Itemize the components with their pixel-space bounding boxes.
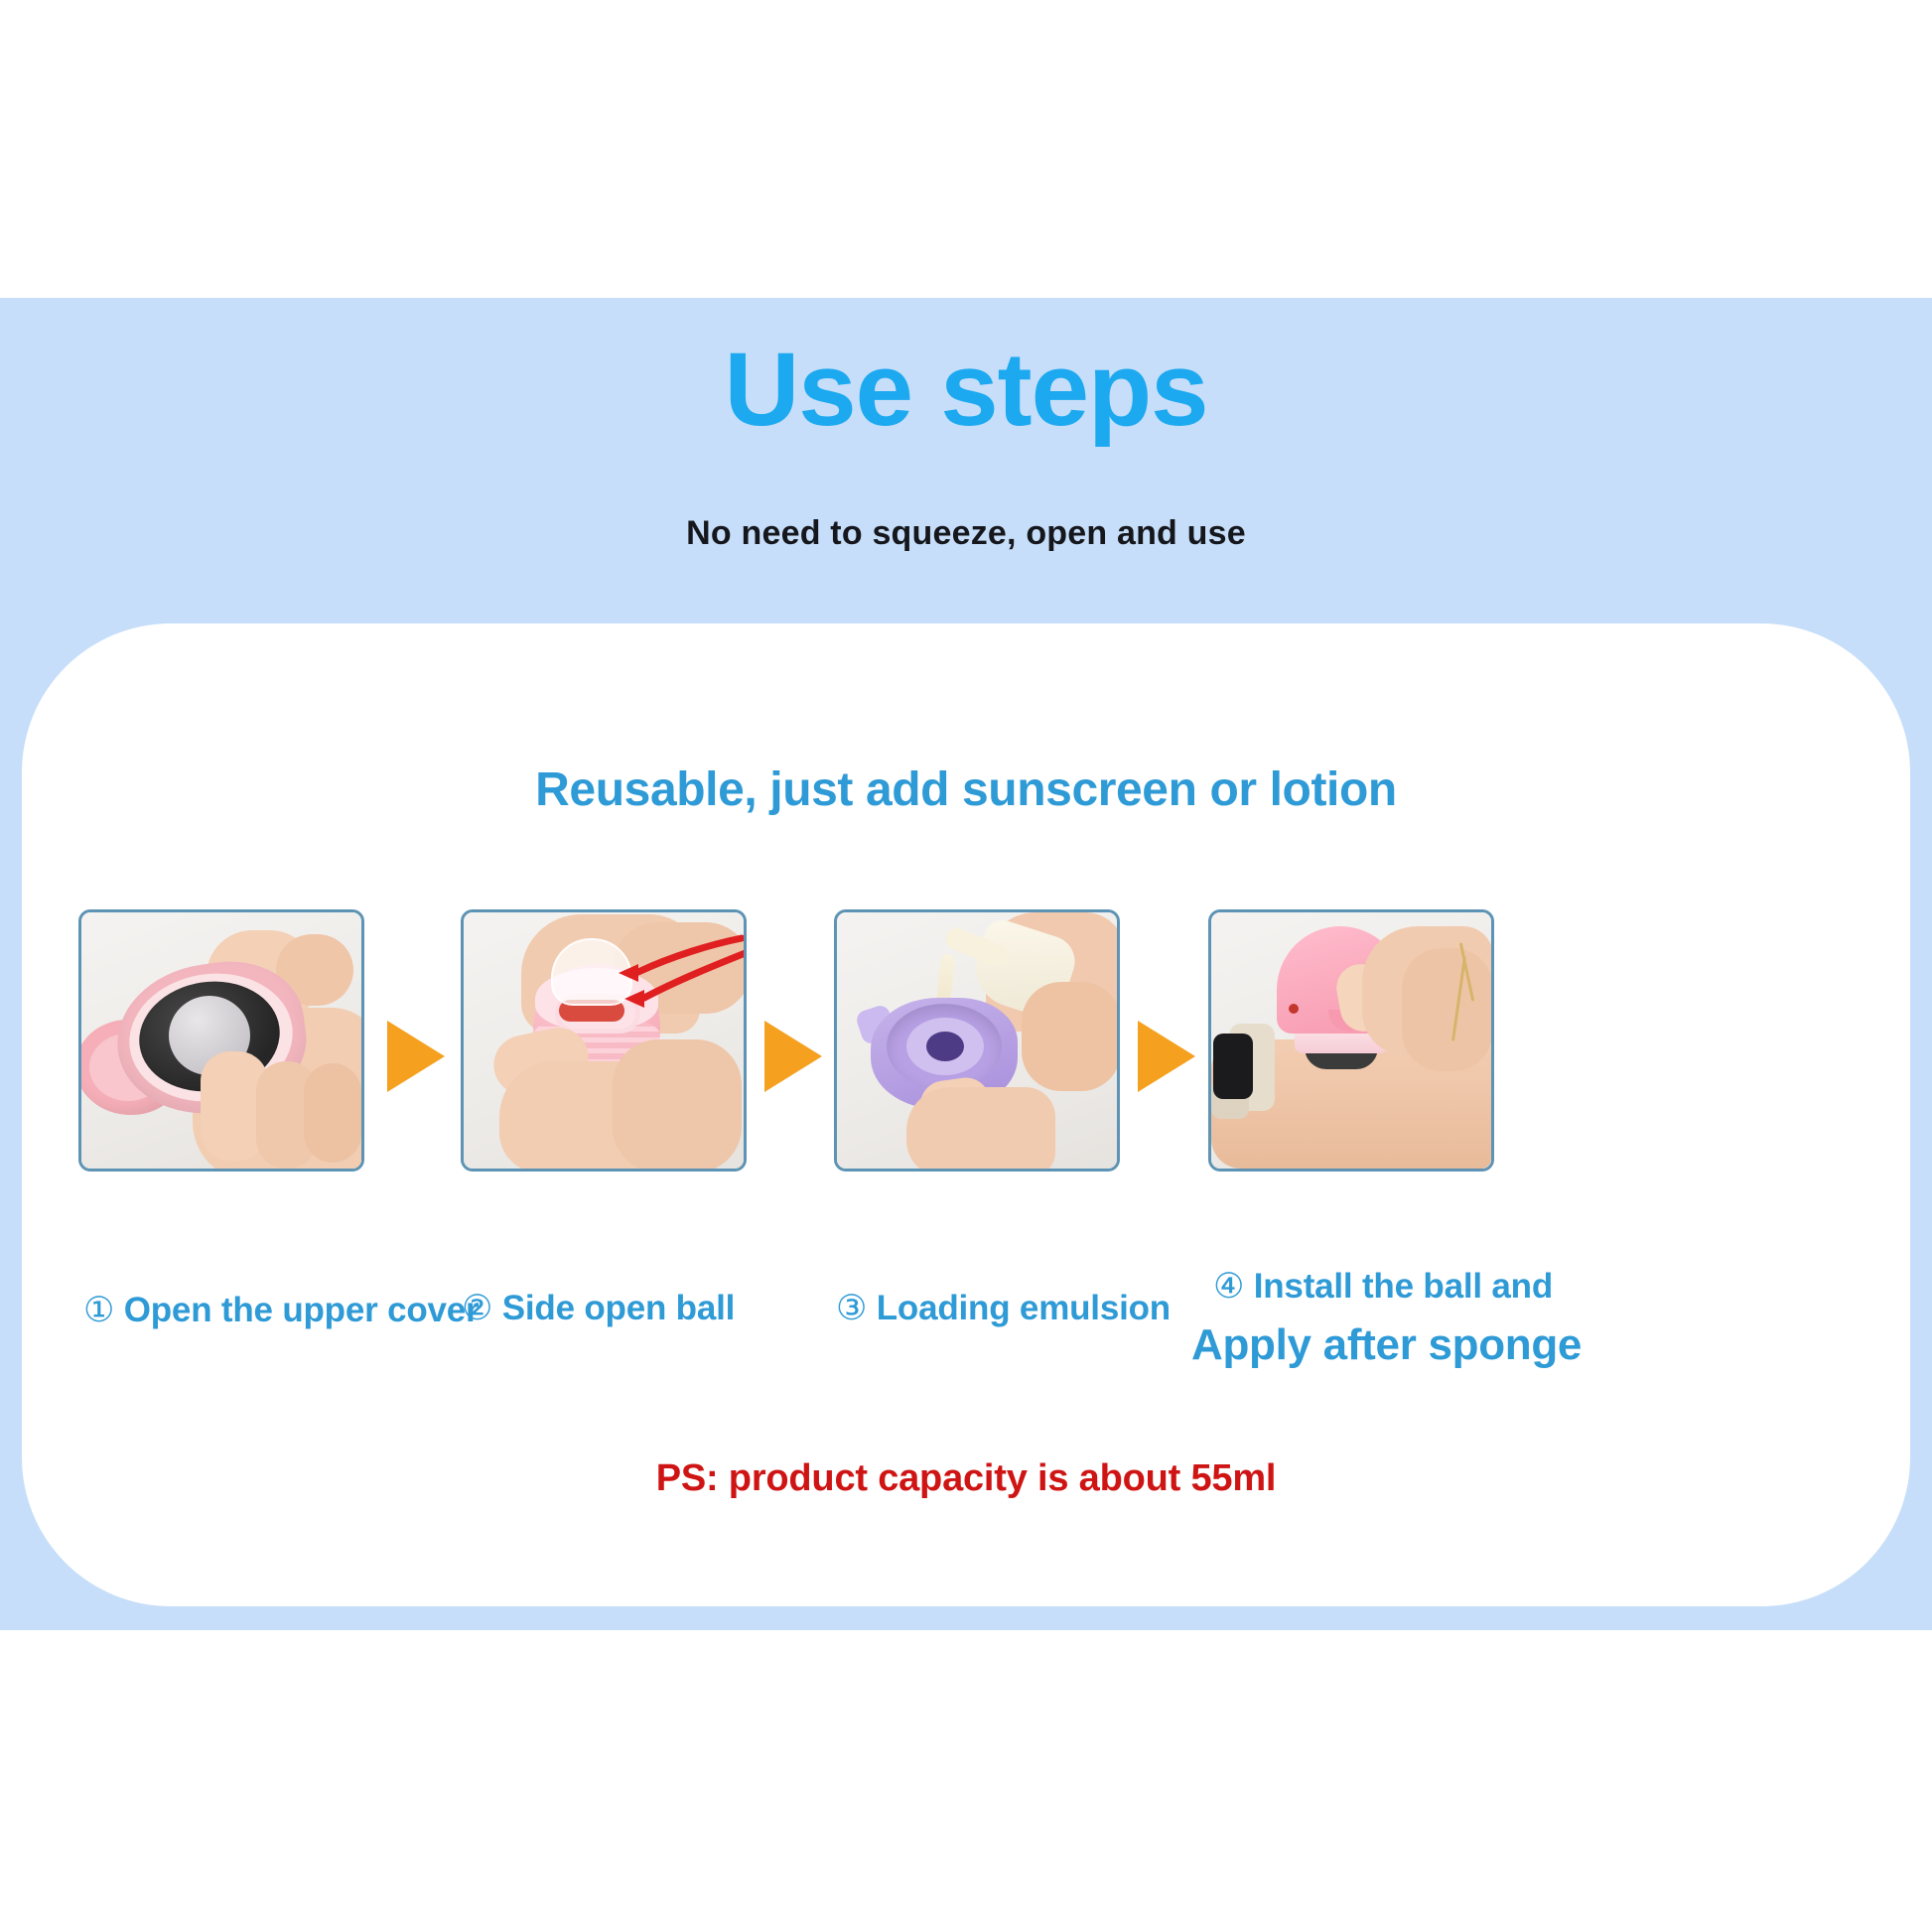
step-3-caption: ③ Loading emulsion	[836, 1289, 1171, 1328]
next-step-arrow-icon	[764, 1021, 822, 1092]
step-3-photo	[834, 909, 1120, 1172]
red-dot-marker-icon	[1289, 1004, 1299, 1014]
page-subtitle: No need to squeeze, open and use	[0, 514, 1932, 553]
step-1-caption: ① Open the upper cover	[83, 1291, 479, 1330]
photo-strip	[22, 909, 1910, 1279]
capacity-note: PS: product capacity is about 55ml	[22, 1457, 1910, 1500]
hand-back	[1402, 948, 1491, 1071]
smartwatch-face	[1213, 1034, 1253, 1099]
step-4-photo	[1208, 909, 1494, 1172]
hand-fingers	[1022, 982, 1117, 1091]
next-step-arrow-icon	[1138, 1021, 1195, 1092]
step-3-number: ③	[836, 1289, 867, 1327]
step-2-label: Side open ball	[502, 1289, 735, 1327]
step-4-number: ④	[1213, 1267, 1244, 1306]
step-4-caption-line2: Apply after sponge	[1191, 1320, 1582, 1370]
steps-card: Reusable, just add sunscreen or lotion	[22, 623, 1910, 1606]
next-step-arrow-icon	[387, 1021, 445, 1092]
step-1-number: ①	[83, 1291, 114, 1329]
hand-lower-back	[613, 1039, 742, 1169]
step-4-label: Install the ball and	[1254, 1267, 1553, 1306]
page-title: Use steps	[0, 336, 1932, 445]
step-3-label: Loading emulsion	[877, 1289, 1171, 1327]
card-heading: Reusable, just add sunscreen or lotion	[22, 762, 1910, 817]
hand-holding-cup	[906, 1087, 1055, 1169]
step-4-caption: ④ Install the ball and	[1213, 1267, 1553, 1307]
step-2-number: ②	[462, 1289, 492, 1327]
step-1-photo	[78, 909, 364, 1172]
red-direction-arrows-icon	[593, 926, 744, 1045]
finger	[304, 1063, 361, 1163]
step-2-caption: ② Side open ball	[462, 1289, 735, 1328]
cup-valve-hole	[926, 1032, 964, 1061]
step-2-photo	[461, 909, 747, 1172]
step-1-label: Open the upper cover	[124, 1291, 480, 1329]
